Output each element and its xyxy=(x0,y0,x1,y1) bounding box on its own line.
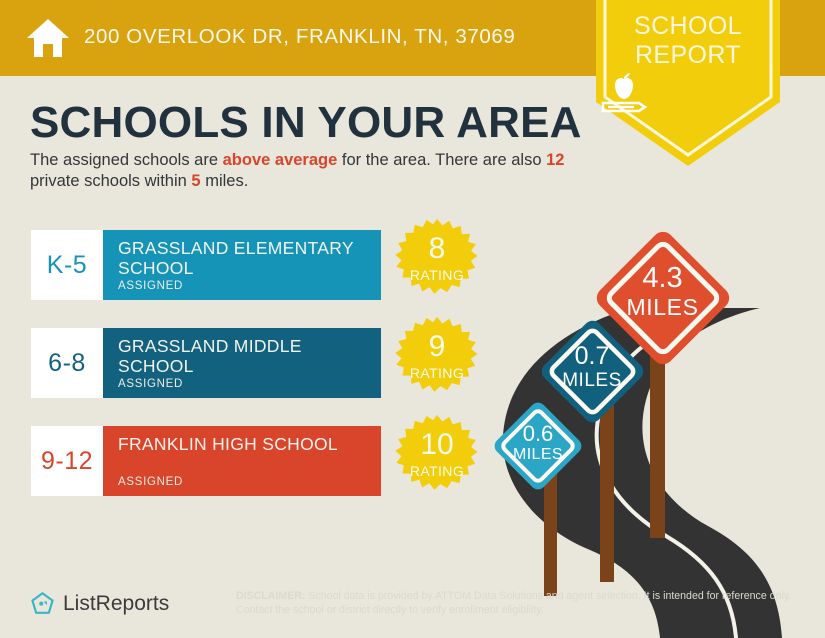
school-name: FRANKLIN HIGH SCHOOL xyxy=(118,434,368,454)
listreports-logo-text: ListReports xyxy=(63,592,169,616)
school-name: GRASSLAND ELEMENTARY SCHOOL xyxy=(118,238,368,278)
rating-label: RATING xyxy=(389,365,485,381)
home-icon xyxy=(26,17,70,59)
property-address: 200 OVERLOOK DR, FRANKLIN, TN, 37069 xyxy=(84,25,515,49)
subtitle-text-2: for the area. There are also xyxy=(337,151,546,169)
subtitle-text-4: miles. xyxy=(201,172,249,190)
sign-2-unit: MILES xyxy=(528,370,656,392)
badge-title-line1: SCHOOL xyxy=(596,12,780,41)
disclaimer-body: School data is provided by ATTOM Data So… xyxy=(236,590,791,616)
school-bar: GRASSLAND ELEMENTARY SCHOOL ASSIGNED xyxy=(103,230,381,300)
rating-value: 10 xyxy=(389,429,485,461)
sign-1-unit: MILES xyxy=(482,446,594,464)
rating-starburst: 9 RATING xyxy=(389,313,485,413)
apple-on-book-icon xyxy=(596,72,780,118)
school-bar: FRANKLIN HIGH SCHOOL ASSIGNED xyxy=(103,426,381,496)
sign-1-value: 0.6 xyxy=(482,422,594,446)
rating-label: RATING xyxy=(389,267,485,283)
badge-title: SCHOOL REPORT xyxy=(596,12,780,70)
school-grade-range: 6-8 xyxy=(31,328,103,398)
subtitle-emphasis-1: above average xyxy=(223,151,338,169)
school-bar: GRASSLAND MIDDLE SCHOOL ASSIGNED xyxy=(103,328,381,398)
subtitle-text-3: private schools within xyxy=(30,172,191,190)
school-grade-range: K-5 xyxy=(31,230,103,300)
school-status: ASSIGNED xyxy=(118,476,183,488)
sign-2-value: 0.7 xyxy=(528,343,656,370)
page-title: SCHOOLS IN YOUR AREA xyxy=(30,98,582,148)
school-status: ASSIGNED xyxy=(118,280,183,292)
badge-title-line2: REPORT xyxy=(596,41,780,70)
school-row[interactable]: 9-12 FRANKLIN HIGH SCHOOL ASSIGNED 10 RA… xyxy=(31,426,461,496)
subtitle-emphasis-3: 5 xyxy=(191,172,200,190)
rating-value: 8 xyxy=(389,233,485,265)
infographic-canvas: 4.3 MILES 0.7 MILES 0.6 MILES 200 OVER xyxy=(0,0,825,638)
school-list: K-5 GRASSLAND ELEMENTARY SCHOOL ASSIGNED… xyxy=(31,230,461,524)
subtitle-emphasis-2: 12 xyxy=(546,151,564,169)
rating-starburst: 10 RATING xyxy=(389,411,485,511)
rating-label: RATING xyxy=(389,463,485,479)
rating-value: 9 xyxy=(389,331,485,363)
school-grade-range: 9-12 xyxy=(31,426,103,496)
road-scene: 4.3 MILES 0.7 MILES 0.6 MILES xyxy=(460,250,825,638)
school-status: ASSIGNED xyxy=(118,378,183,390)
school-row[interactable]: 6-8 GRASSLAND MIDDLE SCHOOL ASSIGNED 9 R… xyxy=(31,328,461,398)
rating-starburst: 8 RATING xyxy=(389,215,485,315)
school-row[interactable]: K-5 GRASSLAND ELEMENTARY SCHOOL ASSIGNED… xyxy=(31,230,461,300)
school-name: GRASSLAND MIDDLE SCHOOL xyxy=(118,336,368,376)
sign-3-value: 4.3 xyxy=(580,262,745,294)
school-report-badge: SCHOOL REPORT xyxy=(596,0,780,166)
subtitle-text-1: The assigned schools are xyxy=(30,151,223,169)
listreports-house-icon xyxy=(30,591,55,617)
disclaimer-text: DISCLAIMER: School data is provided by A… xyxy=(236,590,792,617)
page-subtitle: The assigned schools are above average f… xyxy=(30,150,576,192)
distance-sign-1[interactable]: 0.6 MILES xyxy=(482,390,594,502)
disclaimer-label: DISCLAIMER: xyxy=(236,590,305,602)
listreports-logo[interactable]: ListReports xyxy=(30,589,169,619)
